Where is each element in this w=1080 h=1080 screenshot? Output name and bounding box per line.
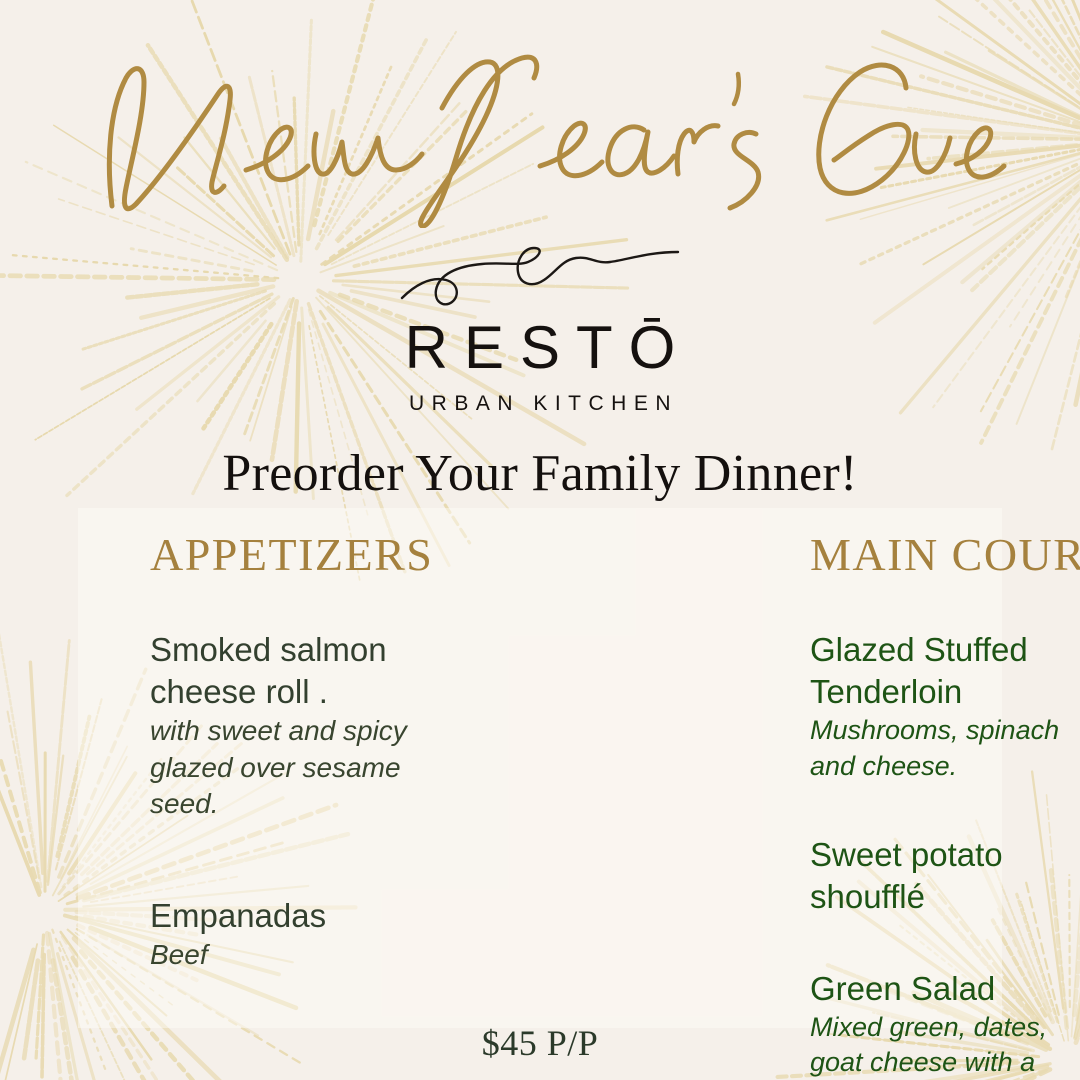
menu-item-description: with sweet and spicy glazed over sesame …: [150, 713, 430, 822]
menu-item-description: Beef: [150, 937, 430, 973]
menu-item-name: Sweet potato shoufflé: [810, 834, 1080, 918]
restaurant-logo: RESTŌ URBAN KITCHEN: [0, 246, 1080, 416]
menu-item-name: Glazed Stuffed Tenderloin: [810, 629, 1080, 713]
menu-item: Sweet potato shoufflé: [810, 834, 1080, 918]
menu-item-description: Mushrooms, spinach and cheese.: [810, 713, 1080, 783]
menu-column-main-course: MAIN COURSE Glazed Stuffed Tenderloin Mu…: [430, 528, 1080, 998]
menu-columns: APPETIZERS Smoked salmon cheese roll . w…: [0, 528, 1080, 998]
menu-item: Smoked salmon cheese roll . with sweet a…: [150, 629, 430, 823]
squiggle-flourish-icon: [400, 246, 680, 308]
script-title: [0, 38, 1080, 228]
menu-item-name: Smoked salmon cheese roll .: [150, 629, 430, 713]
logo-tagline: URBAN KITCHEN: [7, 392, 1080, 416]
menu-item: Glazed Stuffed Tenderloin Mushrooms, spi…: [810, 629, 1080, 784]
logo-wordmark: RESTŌ: [16, 318, 1080, 378]
column-heading-main-course: MAIN COURSE: [810, 528, 1080, 581]
menu-item-name: Green Salad: [810, 968, 1080, 1010]
script-title-artwork: [70, 38, 1010, 228]
menu-column-appetizers: APPETIZERS Smoked salmon cheese roll . w…: [0, 528, 430, 998]
column-heading-appetizers: APPETIZERS: [150, 528, 430, 581]
menu-item-name: Empanadas: [150, 895, 430, 937]
price-per-person: $45 P/P: [0, 1022, 1080, 1064]
new-years-eve-menu-poster: RESTŌ URBAN KITCHEN Preorder Your Family…: [0, 0, 1080, 1080]
menu-item: Empanadas Beef: [150, 895, 430, 974]
page-tagline: Preorder Your Family Dinner!: [0, 444, 1080, 503]
